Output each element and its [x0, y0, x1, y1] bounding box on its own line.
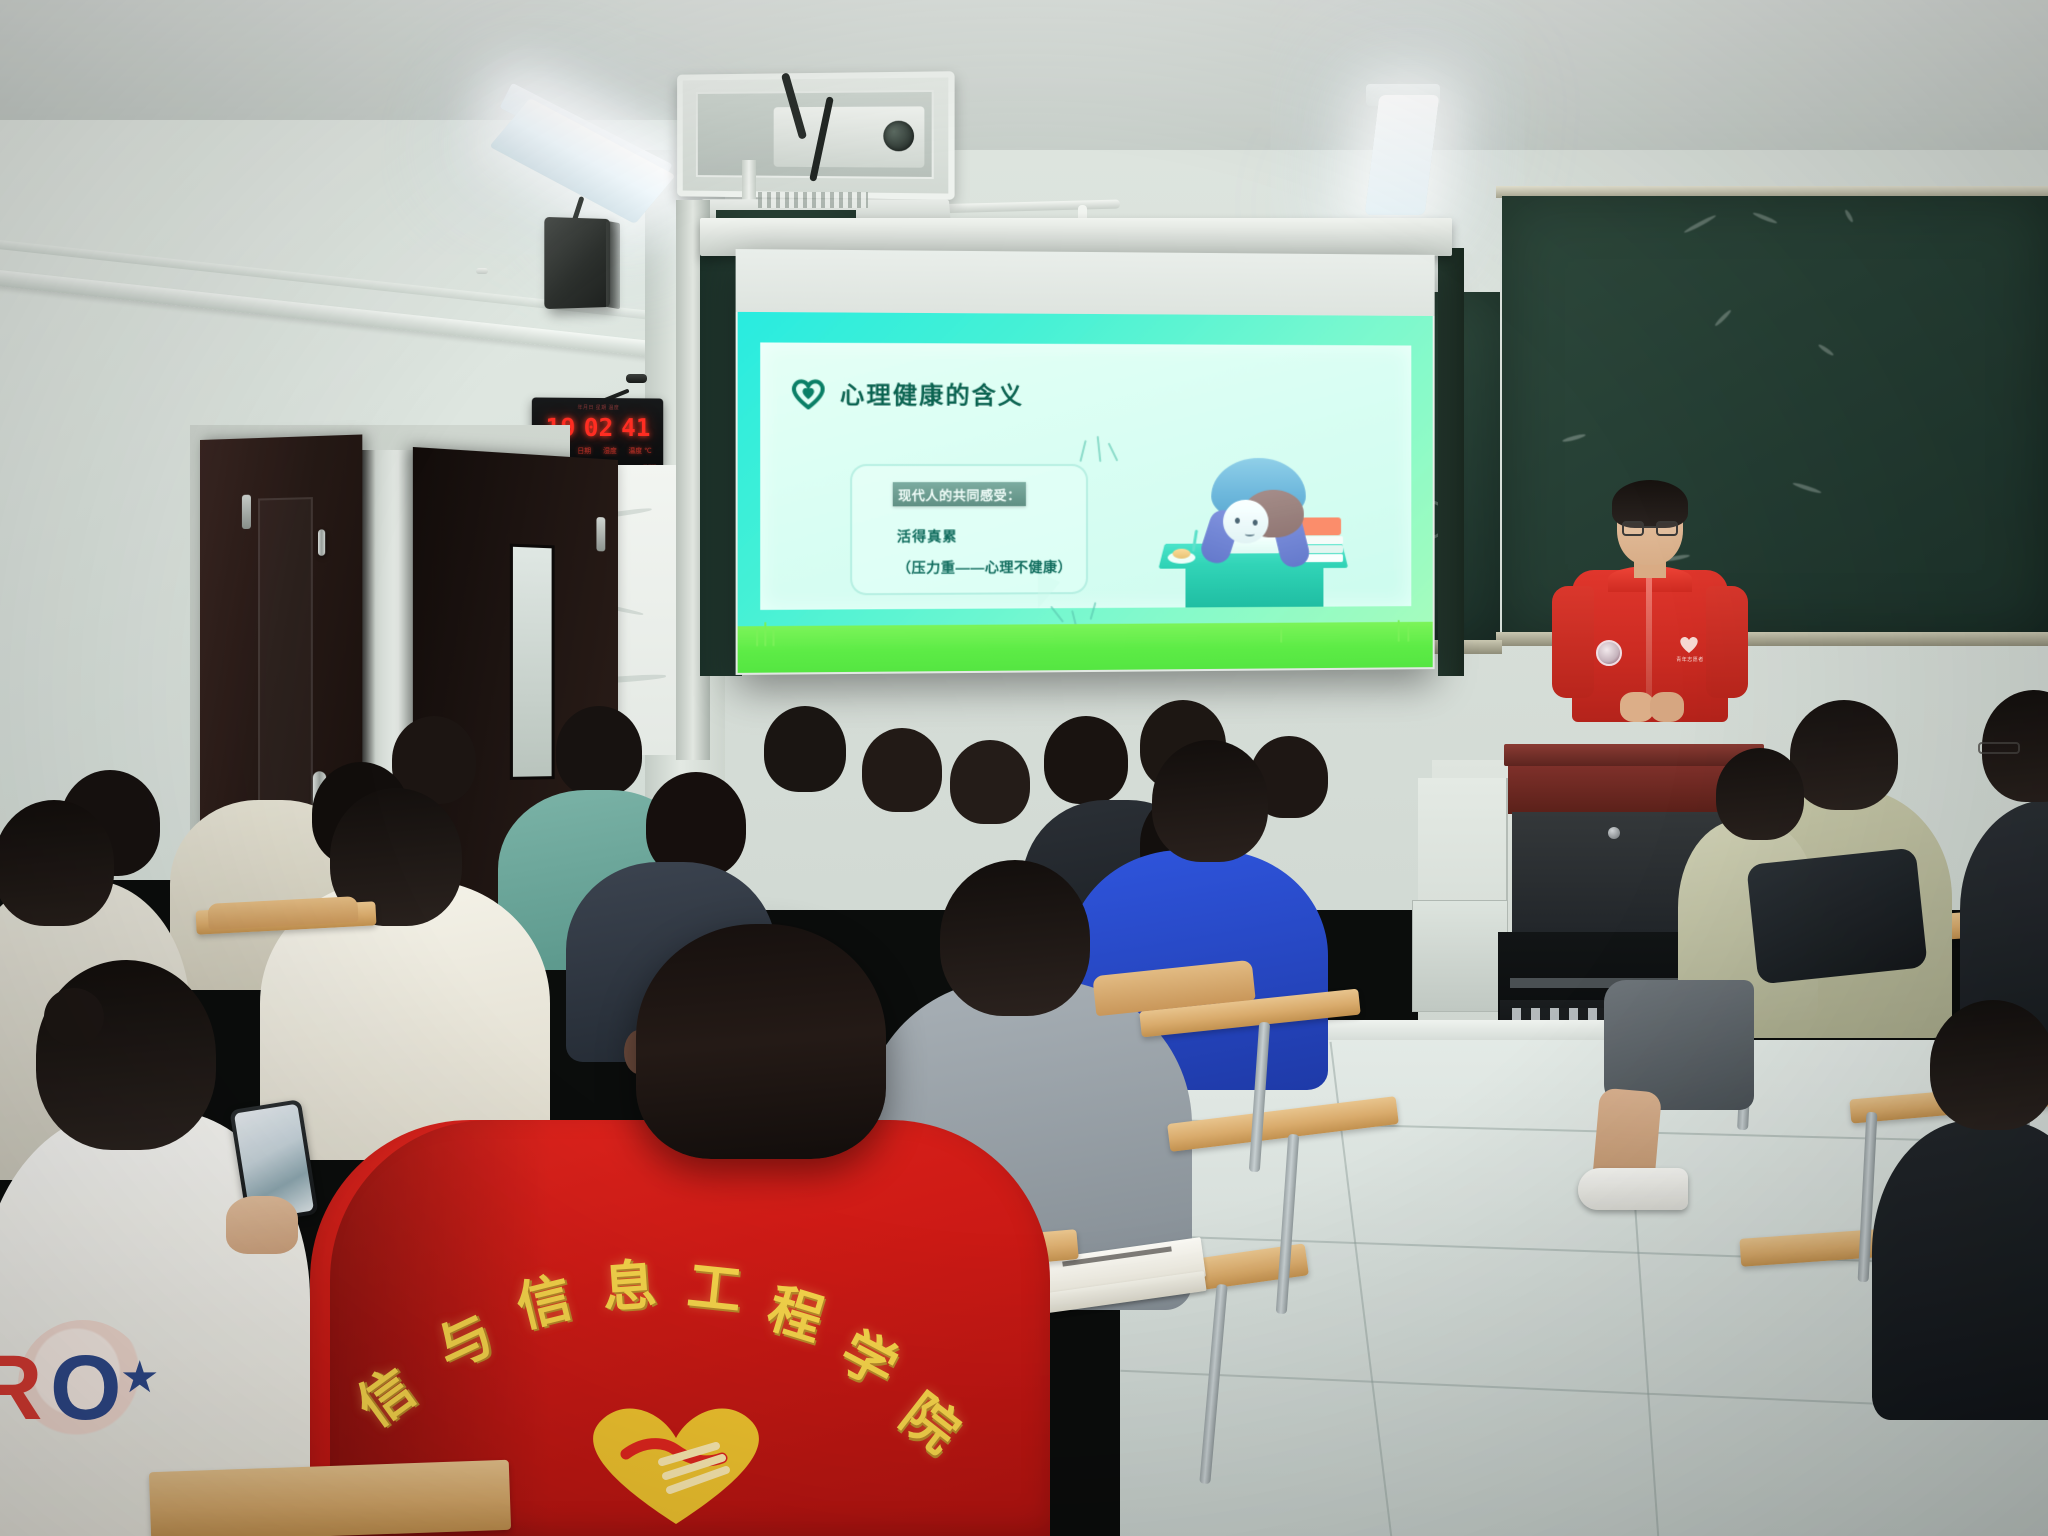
- vest-char-7: 学: [829, 1308, 914, 1403]
- clock-microphone: [600, 372, 644, 398]
- grass-blade: [756, 628, 758, 646]
- presenter-hand-right: [1650, 692, 1684, 722]
- projection-screen: 心理健康的含义 现代人的共同感受： 活得真累 （压力重——心理不健康）: [736, 249, 1435, 675]
- clock-label-humidity: 湿度: [603, 445, 617, 455]
- student-blue-shirt-head: [1152, 740, 1268, 862]
- eyeglasses-far-right: [1978, 742, 2020, 754]
- illustration-desk-front: [1185, 563, 1323, 607]
- door-hinge: [242, 495, 251, 529]
- illustration-eye-left: [1235, 518, 1240, 524]
- conduit-pipe-long: [476, 268, 488, 274]
- screen-right-edge: [1438, 248, 1464, 676]
- eyeglass-bridge: [1644, 526, 1656, 528]
- front-desk-top: [149, 1460, 511, 1536]
- door-hinge: [596, 517, 605, 552]
- hoodie-print-letter-o: O: [50, 1336, 122, 1441]
- student-head: [556, 706, 642, 796]
- eyeglass-lens-right: [1656, 521, 1678, 536]
- podium-desktop[interactable]: [1504, 744, 1764, 766]
- heart-outline-icon: [791, 377, 826, 409]
- projector-cage-mount: [677, 71, 954, 200]
- grass-blade: [773, 628, 775, 646]
- presenter-hand-left: [1620, 692, 1654, 722]
- screen-top-blank-area: [736, 249, 1435, 316]
- slide-badge-label: 现代人的共同感受：: [893, 482, 1026, 506]
- wall-speaker-side: [606, 221, 620, 309]
- student-right-lower-head: [1930, 1000, 2048, 1130]
- student-gray-shirt-head: [940, 860, 1090, 1016]
- chalk-mark: [1562, 433, 1586, 443]
- presenter-emblem-badge: [1596, 640, 1622, 666]
- projector-lens: [883, 121, 914, 152]
- blackboard-right: [1502, 196, 2048, 636]
- vest-char-1: 信: [338, 1346, 428, 1442]
- chalk-mark: [1817, 343, 1834, 357]
- chalk-mark: [1752, 211, 1778, 224]
- clock-label-date: 日期: [577, 446, 591, 456]
- chalk-mark: [1683, 214, 1717, 234]
- student-right-lower-body: [1872, 1120, 2048, 1420]
- student-left-edge-head: [0, 800, 114, 926]
- slide-title: 心理健康的含义: [840, 375, 1024, 411]
- illustration-bread: [1173, 549, 1191, 559]
- presentation-slide: 心理健康的含义 现代人的共同感受： 活得真累 （压力重——心理不健康）: [738, 312, 1433, 673]
- chalk-mark: [1714, 309, 1732, 327]
- speech-bubble-tail: [1038, 572, 1060, 608]
- wall-speaker: [544, 217, 610, 309]
- slide-body-line-2: （压力重——心理不健康）: [897, 557, 1072, 578]
- tired-student-illustration: [1150, 456, 1357, 611]
- vest-char-3: 信: [507, 1253, 579, 1343]
- classroom-scene: 年月日 星期 温度 19 02 41 星期一 日期 湿度 温度 ℃ CLOCK: [0, 0, 2048, 1536]
- podium-lock-knob[interactable]: [1608, 827, 1620, 839]
- presenter-sleeve-left: [1552, 586, 1594, 698]
- slide-grass-band: [738, 622, 1433, 673]
- student-head: [862, 728, 942, 812]
- student-head: [764, 706, 846, 792]
- hoodie-print-letter-r: R: [0, 1336, 42, 1441]
- hair-bun: [44, 988, 104, 1046]
- illustration-head: [1223, 500, 1268, 544]
- sparkle-mark: [1050, 606, 1064, 623]
- illustration-eye-right: [1253, 520, 1258, 526]
- student-olive-shirt-head: [1790, 700, 1898, 810]
- presenter-heart-logo-icon: [1678, 634, 1700, 654]
- illustration-book: [1302, 517, 1341, 535]
- chalk-mark: [1844, 209, 1854, 223]
- vest-char-2: 与: [422, 1290, 504, 1384]
- student-aisle-head: [1716, 748, 1804, 840]
- grass-blade: [764, 622, 766, 646]
- backpack: [1746, 847, 1928, 984]
- clock-seconds: 41: [621, 413, 650, 442]
- slide-body-line-1: 活得真累: [897, 526, 958, 546]
- grass-blade: [1407, 624, 1409, 642]
- chalk-mark: [1792, 481, 1822, 494]
- eyeglasses: [1622, 521, 1680, 536]
- sneaker: [1578, 1168, 1688, 1210]
- clock-minutes: 02: [584, 412, 614, 441]
- vest-char-6: 程: [760, 1264, 835, 1355]
- grass-blade: [1280, 629, 1282, 643]
- projector-vent: [758, 192, 868, 208]
- presenter-vest-logo-text: 青年志愿者: [1666, 656, 1714, 663]
- illustration-mouth: [1245, 532, 1255, 537]
- podium-side-cabinet: [1412, 900, 1508, 1012]
- heart-and-hand-volunteer-logo: [566, 1398, 786, 1528]
- student-head: [1044, 716, 1128, 804]
- door-latch-left[interactable]: [318, 529, 325, 556]
- foreground-student-head: [636, 924, 886, 1159]
- student-left-phone-head: [36, 960, 216, 1150]
- vest-char-4: 息: [599, 1240, 658, 1323]
- door-window: [510, 544, 555, 780]
- student-left-hand: [226, 1196, 298, 1254]
- hoodie-print-star: ★: [120, 1352, 159, 1403]
- vest-char-5: 工: [684, 1241, 746, 1325]
- grass-blade: [1398, 620, 1400, 642]
- eyeglass-lens-left: [1622, 521, 1644, 536]
- student-head: [950, 740, 1030, 824]
- clock-label-temp: 温度 ℃: [629, 445, 652, 455]
- presenter-sleeve-right: [1706, 586, 1748, 698]
